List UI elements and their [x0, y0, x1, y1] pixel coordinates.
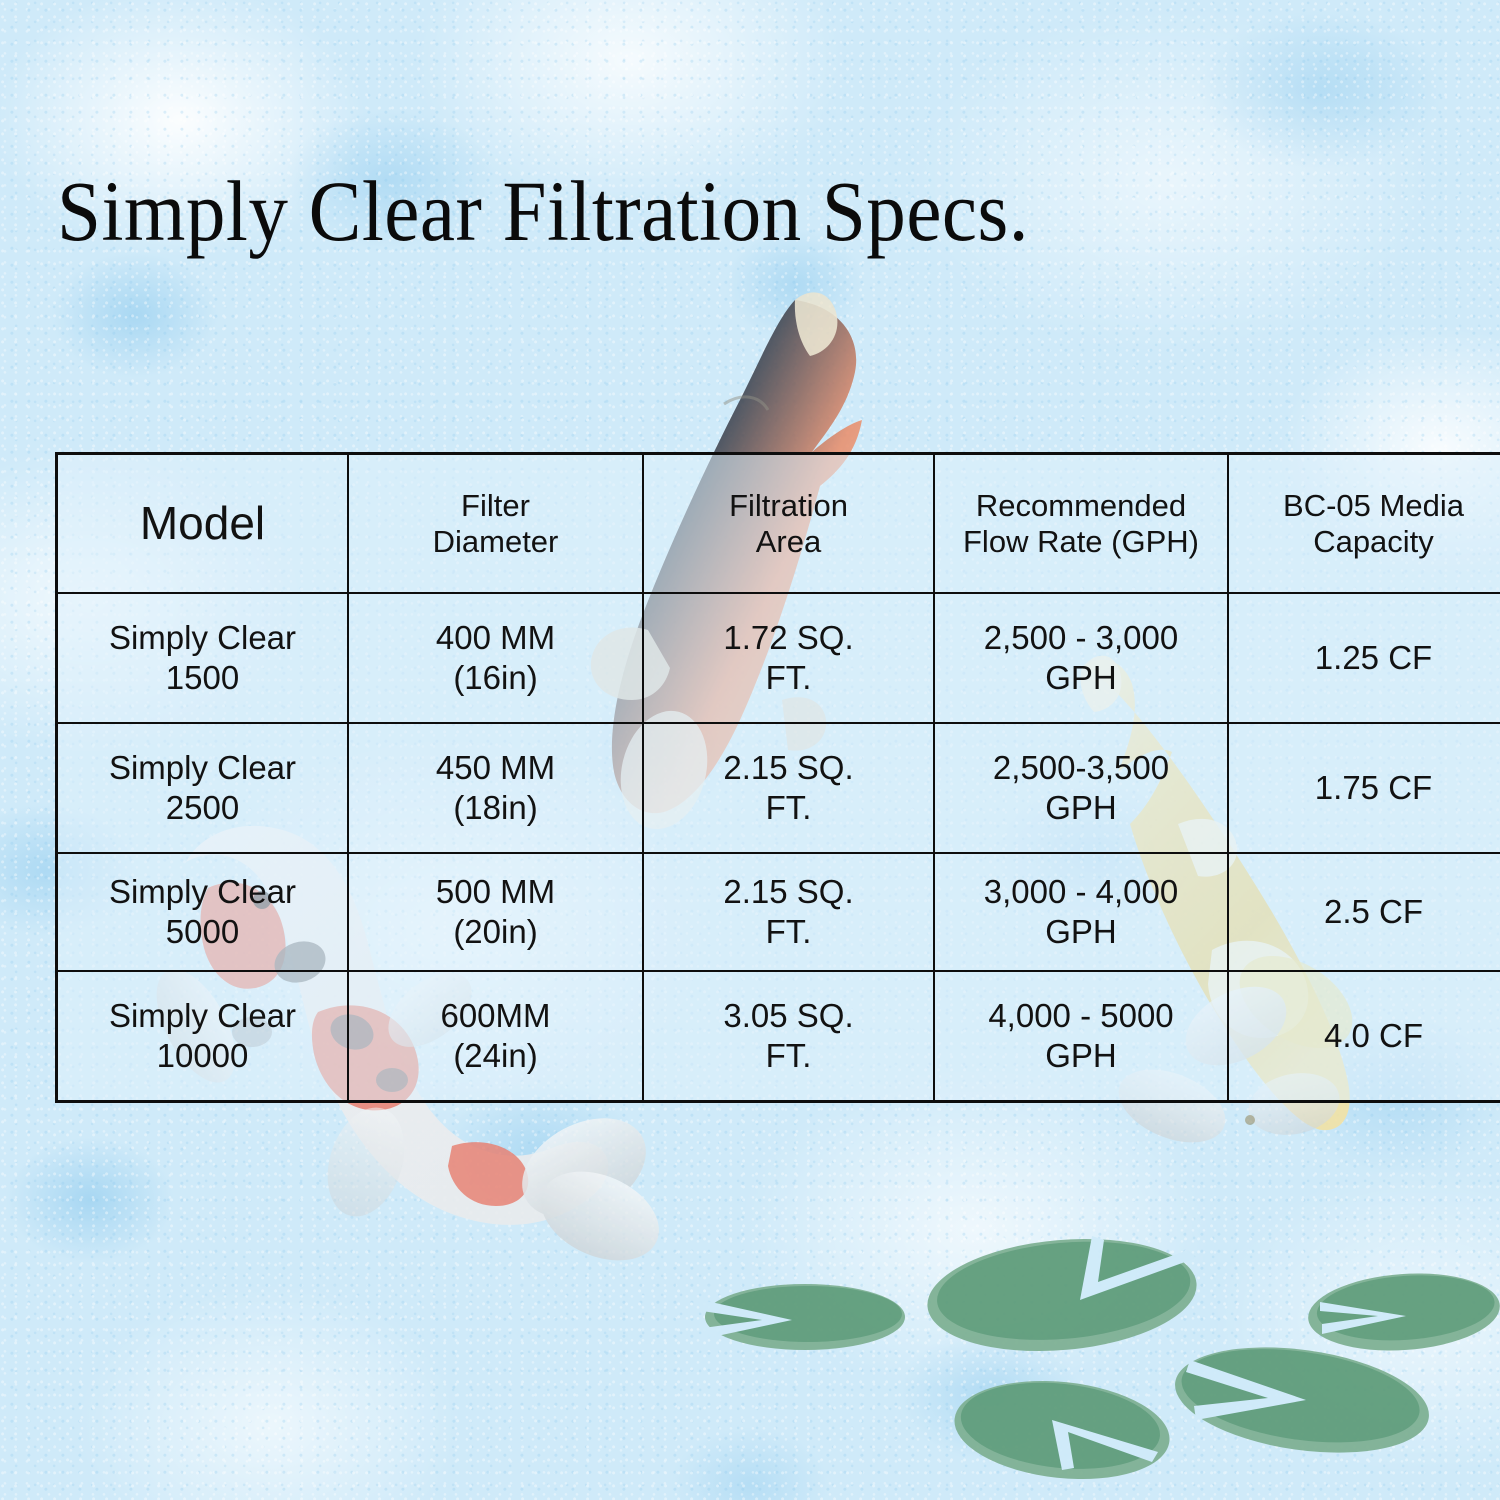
cell-media: 1.25 CF — [1228, 593, 1500, 723]
cell-flow: 2,500-3,500 GPH — [934, 723, 1228, 853]
cell-area: 2.15 SQ. FT. — [643, 723, 934, 853]
cell-diameter: 450 MM (18in) — [348, 723, 643, 853]
cell-model: Simply Clear 1500 — [57, 593, 349, 723]
table-row: Simply Clear 10000 600MM (24in) 3.05 SQ.… — [57, 971, 1500, 1101]
cell-media: 1.75 CF — [1228, 723, 1500, 853]
column-header-filter-diameter: Filter Diameter — [348, 454, 643, 594]
page-title: Simply Clear Filtration Specs. — [57, 168, 1029, 254]
column-header-filtration-area: Filtration Area — [643, 454, 934, 594]
cell-flow: 2,500 - 3,000 GPH — [934, 593, 1228, 723]
cell-media: 2.5 CF — [1228, 853, 1500, 971]
filtration-spec-table: Model Filter Diameter Filtration Area Re… — [55, 452, 1500, 1103]
table-row: Simply Clear 2500 450 MM (18in) 2.15 SQ.… — [57, 723, 1500, 853]
cell-media: 4.0 CF — [1228, 971, 1500, 1101]
cell-diameter: 400 MM (16in) — [348, 593, 643, 723]
cell-model: Simply Clear 5000 — [57, 853, 349, 971]
column-header-flow-rate: Recommended Flow Rate (GPH) — [934, 454, 1228, 594]
table-row: Simply Clear 1500 400 MM (16in) 1.72 SQ.… — [57, 593, 1500, 723]
cell-flow: 3,000 - 4,000 GPH — [934, 853, 1228, 971]
table-row: Simply Clear 5000 500 MM (20in) 2.15 SQ.… — [57, 853, 1500, 971]
cell-model: Simply Clear 10000 — [57, 971, 349, 1101]
table-header-row: Model Filter Diameter Filtration Area Re… — [57, 454, 1500, 594]
cell-area: 3.05 SQ. FT. — [643, 971, 934, 1101]
cell-flow: 4,000 - 5000 GPH — [934, 971, 1228, 1101]
cell-diameter: 500 MM (20in) — [348, 853, 643, 971]
poster-canvas: Simply Clear Filtration Specs. Model Fil… — [0, 0, 1500, 1500]
cell-area: 1.72 SQ. FT. — [643, 593, 934, 723]
cell-model: Simply Clear 2500 — [57, 723, 349, 853]
cell-diameter: 600MM (24in) — [348, 971, 643, 1101]
column-header-media-capacity: BC-05 Media Capacity — [1228, 454, 1500, 594]
column-header-model: Model — [57, 454, 349, 594]
cell-area: 2.15 SQ. FT. — [643, 853, 934, 971]
